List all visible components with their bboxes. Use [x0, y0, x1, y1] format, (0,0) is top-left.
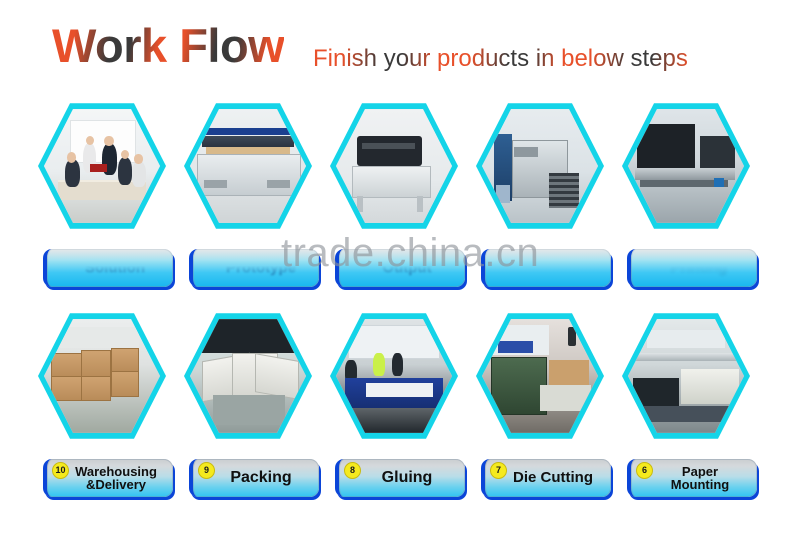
hexagon-photo-frame [190, 108, 306, 224]
hexagon-photo-frame [482, 108, 598, 224]
hexagon-photo-frame [44, 108, 160, 224]
photo-paper-mounting-line [628, 318, 744, 434]
step-hexagon-5[interactable] [622, 102, 750, 230]
step-label-8[interactable]: 8 Gluing [335, 459, 465, 497]
step-label-9[interactable]: 9 Packing [189, 459, 319, 497]
step-hexagon-1[interactable] [38, 102, 166, 230]
photo-gluing-workshop [336, 318, 452, 434]
hexagon-border [622, 312, 750, 440]
hexagon-border [184, 312, 312, 440]
step-hexagon-2[interactable] [184, 102, 312, 230]
photo-digital-printer [336, 108, 452, 224]
watermark: trade.china.cn [281, 233, 539, 273]
photo-press-line-dark [628, 108, 744, 224]
hexagon-border [38, 102, 166, 230]
step-hexagon-3[interactable] [330, 102, 458, 230]
step-label-10[interactable]: 10 Warehousing &Delivery [43, 459, 173, 497]
hexagon-row-top [0, 102, 800, 230]
hexagon-row-bottom [0, 312, 800, 440]
hexagon-photo-frame [482, 318, 598, 434]
hexagon-border [330, 102, 458, 230]
step-label-5[interactable]: Printing [627, 249, 757, 287]
hexagon-border [184, 102, 312, 230]
step-hexagon-7[interactable] [476, 312, 604, 440]
hexagon-border [476, 312, 604, 440]
step-label-6[interactable]: 6 Paper Mounting [627, 459, 757, 497]
photo-die-cutting-machine [482, 318, 598, 434]
workflow-poster: Work Flow Finish your products in below … [0, 0, 800, 537]
hexagon-photo-frame [44, 318, 160, 434]
step-label-7[interactable]: 7 Die Cutting [481, 459, 611, 497]
step-hexagon-9[interactable] [184, 312, 312, 440]
photo-cnc-cutting-table [190, 108, 306, 224]
step-hexagon-8[interactable] [330, 312, 458, 440]
hexagon-photo-frame [336, 108, 452, 224]
hexagon-photo-frame [190, 318, 306, 434]
hexagon-photo-frame [628, 108, 744, 224]
photo-cardboard-packing [190, 318, 306, 434]
hexagon-border [476, 102, 604, 230]
header: Work Flow Finish your products in below … [0, 0, 800, 92]
hexagon-photo-frame [330, 312, 458, 440]
photo-warehouse-cartons [44, 318, 160, 434]
hexagon-border [622, 102, 750, 230]
hexagon-photo-frame [336, 318, 452, 434]
step-hexagon-6[interactable] [622, 312, 750, 440]
photo-business-meeting [44, 108, 160, 224]
hexagon-border [38, 312, 166, 440]
page-title: Work Flow [52, 22, 284, 69]
page-subtitle: Finish your products in below steps [313, 47, 688, 71]
photo-offset-press-blue [482, 108, 598, 224]
step-hexagon-4[interactable] [476, 102, 604, 230]
step-hexagon-10[interactable] [38, 312, 166, 440]
step-label-1[interactable]: Solution [43, 249, 173, 287]
hexagon-photo-frame [628, 318, 744, 434]
